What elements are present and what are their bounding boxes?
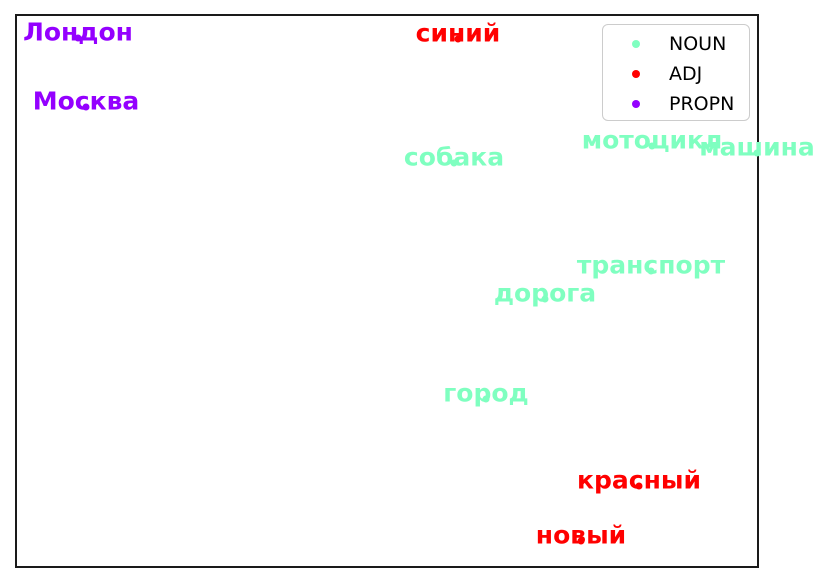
scatter-point-marker [542, 296, 549, 303]
legend-item-propn[interactable]: PROPN [603, 89, 751, 119]
scatter-point-marker [451, 160, 458, 167]
scatter-point-marker [483, 396, 490, 403]
scatter-point-marker [648, 268, 655, 275]
legend-label: PROPN [669, 95, 734, 114]
legend-dot-icon [632, 100, 640, 108]
scatter-point-marker [649, 143, 656, 150]
legend-label: NOUN [669, 35, 726, 54]
legend-marker-cell [603, 40, 669, 48]
scatter-point-marker [636, 483, 643, 490]
legend-dot-icon [632, 40, 640, 48]
legend-marker-cell [603, 100, 669, 108]
pos-tag-legend: NOUNADJPROPN [602, 24, 750, 121]
scatter-point-marker [83, 104, 90, 111]
scatter-point-marker [578, 538, 585, 545]
word-embedding-scatter-figure: собакамотоциклмашинатранспортдорогагород… [0, 0, 829, 584]
scatter-point-marker [75, 35, 82, 42]
legend-item-adj[interactable]: ADJ [603, 59, 751, 89]
scatter-point-marker [455, 36, 462, 43]
legend-dot-icon [632, 70, 640, 78]
scatter-point-marker [754, 150, 761, 157]
legend-marker-cell [603, 70, 669, 78]
legend-label: ADJ [669, 65, 702, 84]
legend-item-noun[interactable]: NOUN [603, 29, 751, 59]
